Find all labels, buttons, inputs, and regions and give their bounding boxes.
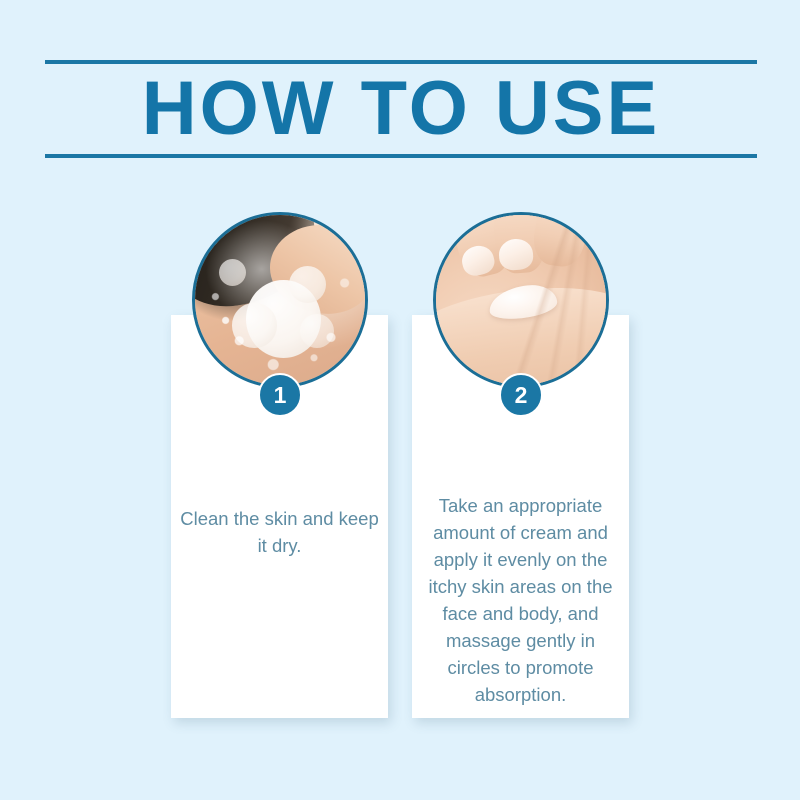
step-2-number-badge: 2	[499, 373, 543, 417]
how-to-use-infographic: HOW TO USE 1 Clean th	[0, 0, 800, 800]
step-1: 1 Clean the skin and keep it dry.	[150, 0, 410, 800]
step-1-description: Clean the skin and keep it dry.	[179, 505, 380, 559]
skin-creases	[436, 215, 606, 385]
step-2: 2 Take an appropriate amount of cream an…	[391, 0, 651, 800]
step-2-image	[433, 212, 609, 388]
step-1-number-badge: 1	[258, 373, 302, 417]
step-2-description: Take an appropriate amount of cream and …	[420, 492, 621, 708]
step-1-image	[192, 212, 368, 388]
steps-container: 1 Clean the skin and keep it dry.	[0, 0, 800, 800]
soap-bubbles	[195, 215, 365, 385]
applying-cream-to-skin-photo	[436, 215, 606, 385]
washing-skin-with-lather-photo	[195, 215, 365, 385]
